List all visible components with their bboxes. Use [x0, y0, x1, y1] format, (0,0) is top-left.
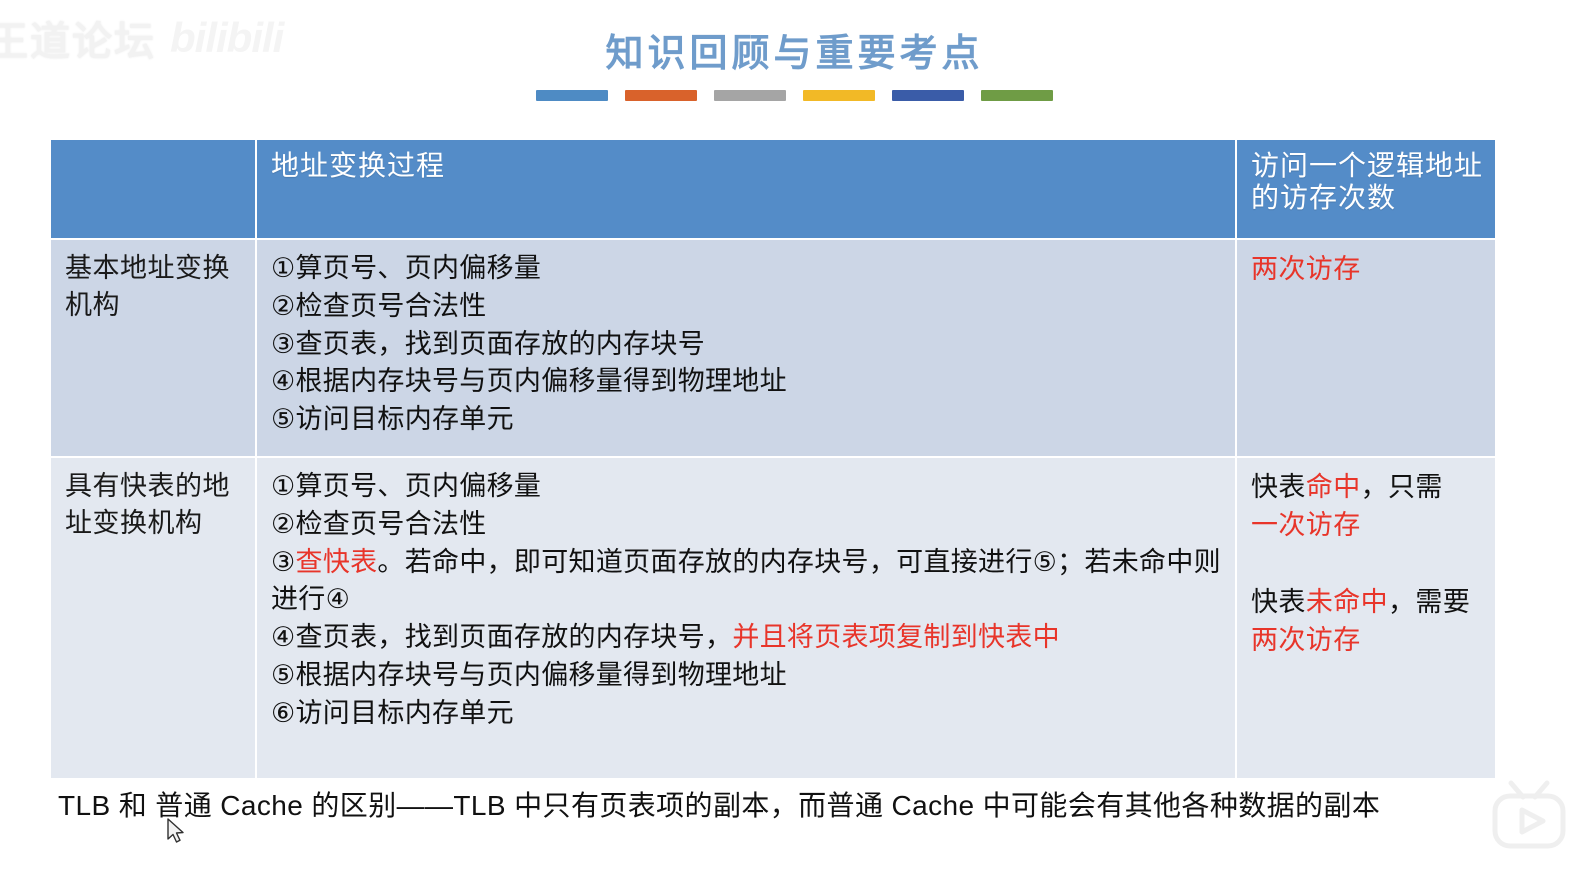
- highlight-text: 未命中: [1306, 587, 1388, 617]
- table-row: 具有快表的地址变换机构 ①算页号、页内偏移量②检查页号合法性③查快表。若命中，即…: [51, 458, 1495, 778]
- title-block: 知识回顾与重要考点: [0, 22, 1589, 101]
- step-line: ⑥访问目标内存单元: [271, 695, 1223, 733]
- header-cell-memory-access-count: 访问一个逻辑地址的访存次数: [1237, 140, 1495, 240]
- accent-bar-orange: [625, 90, 697, 101]
- table-body: 基本地址变换机构 ①算页号、页内偏移量②检查页号合法性③查页表，找到页面存放的内…: [51, 240, 1495, 778]
- accent-bar-yellow: [803, 90, 875, 101]
- step-line: ③查快表。若命中，即可知道页面存放的内存块号，可直接进行⑤；若未命中则进行④: [271, 544, 1223, 620]
- plain-text: ，只需: [1361, 472, 1443, 502]
- table-row: 基本地址变换机构 ①算页号、页内偏移量②检查页号合法性③查页表，找到页面存放的内…: [51, 240, 1495, 458]
- plain-text: ⑥访问目标内存单元: [271, 698, 514, 728]
- highlight-text: 两次访存: [1251, 625, 1361, 655]
- step-line: ①算页号、页内偏移量: [271, 250, 1223, 288]
- row1-mechanism-name: 基本地址变换机构: [51, 240, 257, 458]
- step-line: ②检查页号合法性: [271, 506, 1223, 544]
- accent-bar-gray: [714, 90, 786, 101]
- table-header: 地址变换过程 访问一个逻辑地址的访存次数: [51, 140, 1495, 240]
- plain-text: ②检查页号合法性: [271, 509, 487, 539]
- row2-mechanism-name: 具有快表的地址变换机构: [51, 458, 257, 778]
- highlight-text: 两次访存: [1251, 254, 1361, 284]
- page-title: 知识回顾与重要考点: [0, 22, 1589, 77]
- table-header-row: 地址变换过程 访问一个逻辑地址的访存次数: [51, 140, 1495, 240]
- accent-bar-dark-blue: [892, 90, 964, 101]
- plain-text: 快表: [1251, 587, 1306, 617]
- plain-text: ，需要: [1388, 587, 1470, 617]
- plain-text: ⑤根据内存块号与页内偏移量得到物理地址: [271, 660, 787, 690]
- spacer: [1251, 545, 1483, 583]
- step-line: ④根据内存块号与页内偏移量得到物理地址: [271, 363, 1223, 401]
- accent-bar-blue: [536, 90, 608, 101]
- row2-access-count: 快表命中，只需一次访存快表未命中，需要两次访存: [1237, 458, 1495, 778]
- accent-bar-row: [0, 90, 1589, 101]
- highlight-text: 一次访存: [1251, 510, 1361, 540]
- step-line: ③查页表，找到页面存放的内存块号: [271, 326, 1223, 364]
- row1-steps: ①算页号、页内偏移量②检查页号合法性③查页表，找到页面存放的内存块号④根据内存块…: [257, 240, 1237, 458]
- plain-text: ④查页表，找到页面存放的内存块号，: [271, 622, 732, 652]
- knowledge-review-table: 地址变换过程 访问一个逻辑地址的访存次数 基本地址变换机构 ①算页号、页内偏移量…: [51, 140, 1495, 778]
- footnote-text: TLB 和 普通 Cache 的区别——TLB 中只有页表项的副本，而普通 Ca…: [58, 788, 1508, 824]
- row1-access-count: 两次访存: [1237, 240, 1495, 458]
- plain-text: ③: [271, 547, 296, 577]
- plain-text: ①算页号、页内偏移量: [271, 471, 541, 501]
- accent-bar-green: [981, 90, 1053, 101]
- highlight-text: 命中: [1306, 472, 1361, 502]
- highlight-text: 并且将页表项复制到快表中: [732, 622, 1060, 652]
- step-line: ⑤访问目标内存单元: [271, 401, 1223, 439]
- plain-text: 。若命中，即可知道页面存放的内存块号，可直接进行⑤；若未命中则进行④: [271, 547, 1221, 615]
- step-line: ①算页号、页内偏移量: [271, 468, 1223, 506]
- step-line: ④查页表，找到页面存放的内存块号，并且将页表项复制到快表中: [271, 619, 1223, 657]
- step-line: ⑤根据内存块号与页内偏移量得到物理地址: [271, 657, 1223, 695]
- plain-text: 快表: [1251, 472, 1306, 502]
- row2-steps: ①算页号、页内偏移量②检查页号合法性③查快表。若命中，即可知道页面存放的内存块号…: [257, 458, 1237, 778]
- header-cell-address-translation: 地址变换过程: [257, 140, 1237, 240]
- highlight-text: 查快表: [296, 547, 378, 577]
- header-cell-blank: [51, 140, 257, 240]
- step-line: ②检查页号合法性: [271, 288, 1223, 326]
